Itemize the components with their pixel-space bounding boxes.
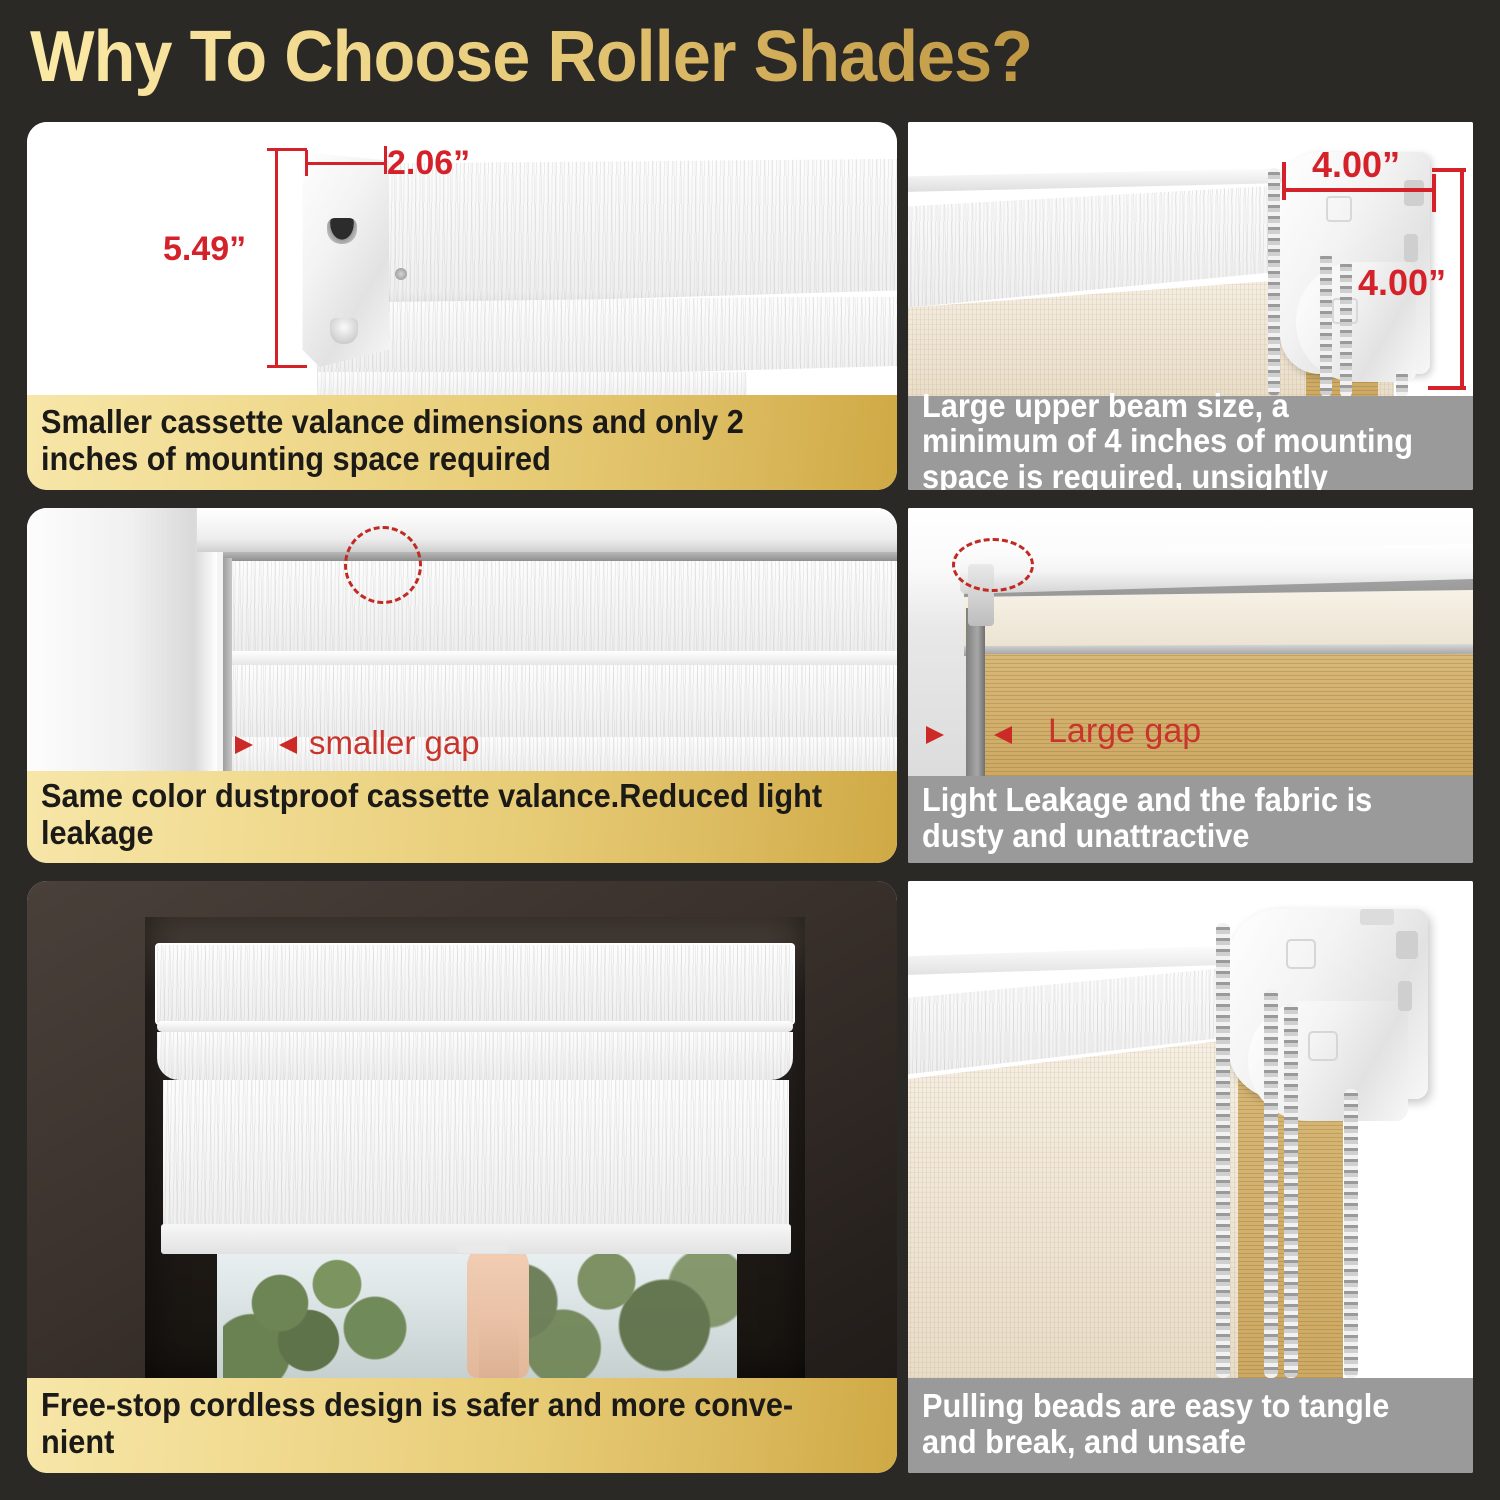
control-slot-icon xyxy=(327,218,357,244)
bead-chain-front[interactable] xyxy=(1216,923,1230,1378)
gap-strip xyxy=(223,558,232,776)
bracket-slot-mid-icon xyxy=(1404,234,1418,262)
mounting-screw-icon xyxy=(330,318,358,344)
dimension-line-height-vertical xyxy=(275,148,278,368)
shade-rail-divider xyxy=(157,1021,793,1032)
gap-arrow-left-icon xyxy=(926,726,944,744)
title-bar: Why To Choose Roller Shades? xyxy=(0,0,1500,112)
caption-bar-bad-3: Pulling beads are easy to tangle and bre… xyxy=(908,1378,1473,1473)
dimension-tick-beam-top xyxy=(1432,168,1466,172)
shade-main-fabric xyxy=(163,1080,789,1234)
shade-head-rail xyxy=(155,943,795,1025)
dimension-label-width: 4.00” xyxy=(1312,144,1400,186)
bracket-arrow-lower-icon xyxy=(1308,1031,1338,1061)
caption-bar-bad-2: Light Leakage and the fabric is dusty an… xyxy=(908,776,1473,863)
gap-arrow-right-icon xyxy=(994,726,1012,744)
bracket-arrow-icon xyxy=(1286,939,1316,969)
dimension-label-beam-height: 4.00” xyxy=(1358,262,1446,304)
panel-smaller-cassette-valance: 2.06” 5.49” Smaller cassette valance dim… xyxy=(27,122,897,490)
fabric-divider-1 xyxy=(227,651,897,665)
product-photo-light-leakage: Large gap xyxy=(908,508,1473,776)
caption-bar-bad-1: Large upper beam size, a minimum of 4 in… xyxy=(908,396,1473,490)
panel-large-upper-beam: 4.00” 4.00” Large upper beam size, a min… xyxy=(908,122,1473,490)
bead-chain-rear[interactable] xyxy=(1340,260,1352,396)
caption-bar-good-1: Smaller cassette valance dimensions and … xyxy=(27,395,897,490)
fabric-band-upper xyxy=(227,561,897,651)
caption-text: Smaller cassette valance dimensions and … xyxy=(41,404,824,478)
caption-text: Pulling beads are easy to tangle and bre… xyxy=(922,1388,1421,1459)
gap-callout-label: Large gap xyxy=(1048,712,1201,751)
dimension-line-beam-height-vertical xyxy=(1460,168,1464,390)
bracket-notch-icon xyxy=(1360,909,1394,925)
cream-fabric-band xyxy=(964,590,1473,648)
bead-chain-middle[interactable] xyxy=(1264,989,1278,1378)
hanging-fabric xyxy=(317,372,747,397)
panel-free-stop-cordless-design: Free-stop cordless design is safer and m… xyxy=(27,881,897,1473)
panel-pulling-beads-unsafe: Pulling beads are easy to tangle and bre… xyxy=(908,881,1473,1473)
dimension-line-depth-horizontal xyxy=(307,162,387,165)
highlight-circle-icon xyxy=(952,538,1034,592)
window-frame-top xyxy=(197,508,897,552)
gap-callout-label: smaller gap xyxy=(309,724,480,762)
bracket-arrow-icon xyxy=(1326,196,1352,222)
caption-text: Large upper beam size, a minimum of 4 in… xyxy=(922,388,1421,490)
dimension-label-depth: 2.06” xyxy=(387,144,470,183)
product-photo-valance-closeup: smaller gap xyxy=(27,508,897,776)
side-screw-icon xyxy=(395,268,407,280)
shade-bottom-grip xyxy=(457,1243,509,1253)
bead-chain-front[interactable] xyxy=(1268,168,1280,396)
bracket-slot-mid-icon xyxy=(1398,981,1412,1011)
bracket-slot-top-icon xyxy=(1396,931,1418,959)
caption-text: Free-stop cordless design is safer and m… xyxy=(41,1387,824,1461)
bead-chain-right[interactable] xyxy=(1344,1089,1358,1378)
highlight-circle-icon xyxy=(344,526,422,604)
dimension-tick-height-top xyxy=(267,148,307,151)
window-frame-left xyxy=(27,508,217,776)
hand-forearm xyxy=(479,1311,519,1378)
shade-roll-tube xyxy=(157,1032,793,1080)
dimension-tick-depth-right xyxy=(384,146,387,174)
dimension-line-width-horizontal xyxy=(1284,188,1436,192)
bracket-slot-top-icon xyxy=(1404,180,1424,206)
product-photo-pulling-beads xyxy=(908,881,1473,1378)
valance-lower-roll xyxy=(317,294,897,382)
page-title: Why To Choose Roller Shades? xyxy=(30,16,1032,98)
gap-arrow-left-icon xyxy=(235,736,253,754)
caption-text: Light Leakage and the fabric is dusty an… xyxy=(922,782,1421,853)
dimension-tick-height-bottom xyxy=(267,365,307,368)
caption-bar-good-2: Same color dustproof cassette valance.Re… xyxy=(27,771,897,863)
dimension-tick-width-right xyxy=(1432,174,1436,212)
product-photo-cassette-valance: 2.06” 5.49” xyxy=(27,122,897,397)
bead-chain-middle[interactable] xyxy=(1320,252,1332,396)
gap-arrow-right-icon xyxy=(279,736,297,754)
caption-bar-good-3: Free-stop cordless design is safer and m… xyxy=(27,1378,897,1473)
panel-light-leakage-dusty-fabric: Large gap Light Leakage and the fabric i… xyxy=(908,508,1473,863)
caption-text: Same color dustproof cassette valance.Re… xyxy=(41,778,824,852)
dimension-tick-beam-bottom xyxy=(1428,386,1466,390)
cassette-head-rail xyxy=(223,552,897,561)
dimension-tick-depth-left xyxy=(305,150,308,176)
dimension-label-height: 5.49” xyxy=(163,230,246,269)
dimension-tick-width-left xyxy=(1282,162,1286,200)
bead-chain-inner[interactable] xyxy=(1284,1003,1298,1378)
product-photo-upper-beam: 4.00” 4.00” xyxy=(908,122,1473,396)
tree-foliage-left xyxy=(223,1253,413,1378)
product-photo-window-scene xyxy=(27,881,897,1378)
large-gap-strip xyxy=(966,608,985,776)
panel-dustproof-cassette-valance: smaller gap Same color dustproof cassett… xyxy=(27,508,897,863)
